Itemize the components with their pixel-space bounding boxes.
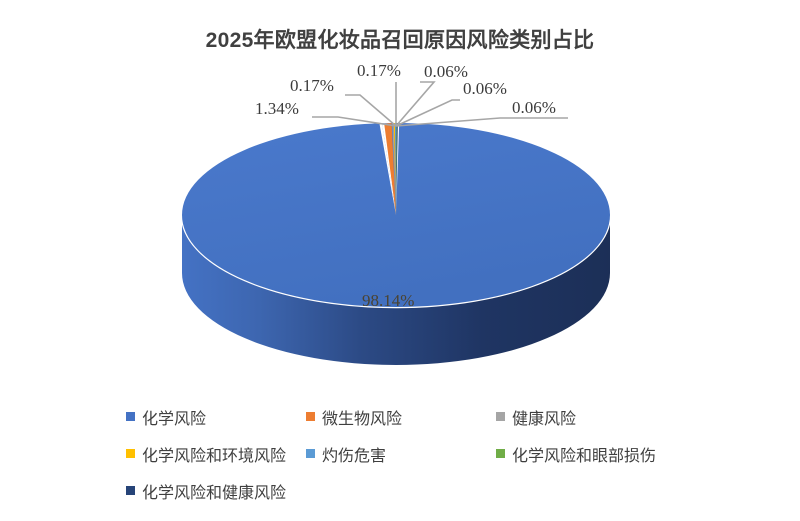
legend-color-swatch-icon [496,412,505,421]
legend-color-swatch-icon [126,412,135,421]
legend-item-label: 化学风险和健康风险 [142,479,286,503]
legend-item[interactable]: 化学风险和眼部损伤 [496,435,676,472]
pie-callout-label: 0.06% [424,62,468,82]
legend-row: 化学风险和环境风险灼伤危害化学风险和眼部损伤 [0,435,800,472]
legend-item-label: 化学风险和眼部损伤 [512,442,656,466]
pie-chart-figure: 2025年欧盟化妆品召回原因风险类别占比 [0,0,800,521]
pie-callout-label: 0.17% [357,61,401,81]
legend-item[interactable]: 化学风险和环境风险 [126,435,306,472]
pie-callout-label: 0.06% [463,79,507,99]
chart-legend: 化学风险微生物风险健康风险化学风险和环境风险灼伤危害化学风险和眼部损伤化学风险和… [0,398,800,509]
legend-item-label: 化学风险和环境风险 [142,442,286,466]
pie-chart-svg [0,0,800,400]
legend-color-swatch-icon [126,486,135,495]
pie-callout-label: 0.06% [512,98,556,118]
legend-color-swatch-icon [126,449,135,458]
legend-row: 化学风险和健康风险 [0,472,800,509]
pie-value-label-main: 98.14% [362,291,414,311]
legend-item-label: 化学风险 [142,405,206,429]
legend-item[interactable]: 健康风险 [496,398,676,435]
pie-callout-label: 0.17% [290,76,334,96]
legend-row: 化学风险微生物风险健康风险 [0,398,800,435]
legend-item[interactable]: 化学风险 [126,398,306,435]
legend-color-swatch-icon [496,449,505,458]
legend-color-swatch-icon [306,412,315,421]
legend-item[interactable]: 化学风险和健康风险 [126,472,306,509]
legend-item-label: 健康风险 [512,405,576,429]
pie-top-face [182,123,610,307]
legend-color-swatch-icon [306,449,315,458]
legend-item-label: 灼伤危害 [322,442,386,466]
legend-item[interactable]: 微生物风险 [306,398,496,435]
legend-item-label: 微生物风险 [322,405,402,429]
legend-item[interactable]: 灼伤危害 [306,435,496,472]
pie-chart-plot-area: 98.14% 1.34%0.17%0.17%0.06%0.06%0.06% [0,0,800,400]
pie-callout-label: 1.34% [255,99,299,119]
